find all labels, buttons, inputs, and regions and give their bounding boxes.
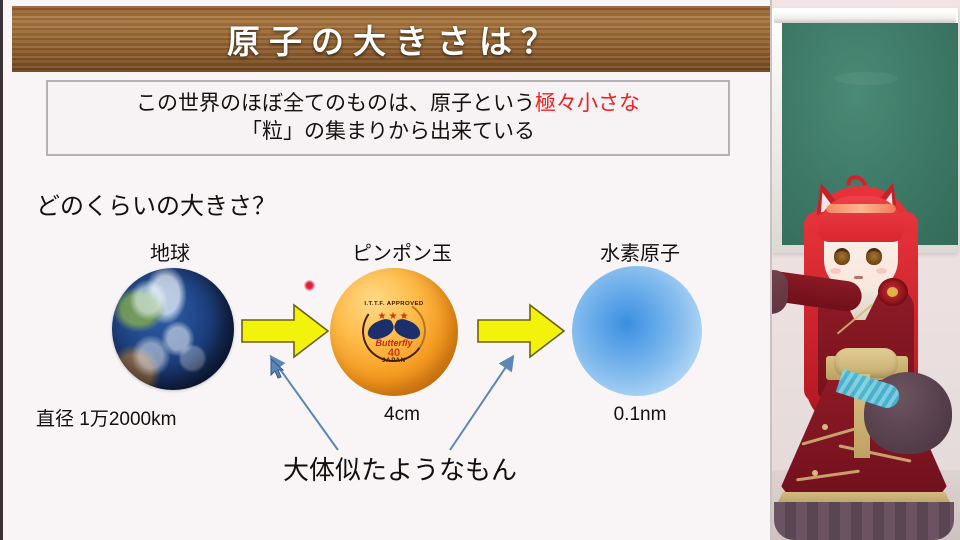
screen-capture: 原子の大きさは？ この世界のほぼ全てのものは、原子という極々小さな 「粒」の集ま… bbox=[0, 0, 960, 540]
subtitle-highlight-text: 極々小さな bbox=[535, 92, 640, 115]
subtitle-line-1: この世界のほぼ全てのものは、原子という極々小さな bbox=[136, 90, 640, 118]
mouse-cursor-icon bbox=[270, 358, 286, 385]
subtitle-box: この世界のほぼ全てのものは、原子という極々小さな 「粒」の集まりから出来ている bbox=[46, 80, 730, 156]
flower-ornament-icon bbox=[878, 278, 908, 306]
eye-left bbox=[834, 248, 850, 265]
hair-bangs bbox=[818, 196, 904, 242]
ittf-approval-text: I.T.T.F. APPROVED bbox=[362, 301, 426, 306]
item-label-pingpong: ピンポン玉 bbox=[322, 237, 482, 266]
blush-right bbox=[876, 268, 887, 274]
presentation-slide: 原子の大きさは？ この世界のほぼ全てのものは、原子という極々小さな 「粒」の集ま… bbox=[0, 0, 772, 540]
item-label-hydrogen-atom: 水素原子 bbox=[560, 237, 720, 266]
blush-left bbox=[830, 268, 841, 274]
slide-title-bar: 原子の大きさは？ bbox=[12, 6, 772, 72]
item-value-hydrogen-atom: 0.1nm bbox=[560, 404, 720, 426]
page-title: 原子の大きさは？ bbox=[12, 6, 772, 72]
embroidery-petal bbox=[822, 424, 828, 430]
eye-right bbox=[866, 248, 882, 265]
item-value-earth: 直径 1万2000km bbox=[36, 404, 286, 431]
dress-frill bbox=[774, 502, 954, 540]
question-text: どのくらいの大きさ？ bbox=[36, 186, 276, 221]
click-indicator-dot bbox=[304, 280, 315, 291]
slide-left-edge bbox=[0, 0, 3, 540]
three-stars-icon: ★★★ bbox=[368, 311, 420, 322]
connector-arrows bbox=[250, 350, 570, 460]
mouth bbox=[854, 276, 863, 279]
bottom-note-text: 大体似たようなもん bbox=[240, 450, 560, 487]
vtuber-avatar bbox=[760, 0, 960, 540]
hydrogen-atom-image bbox=[572, 266, 702, 396]
subtitle-plain-text: この世界のほぼ全てのものは、原子という bbox=[136, 92, 535, 115]
embroidery-petal bbox=[812, 470, 818, 476]
earth-image bbox=[112, 268, 234, 390]
subtitle-line-2: 「粒」の集まりから出来ている bbox=[241, 118, 535, 146]
item-label-earth: 地球 bbox=[110, 237, 230, 266]
